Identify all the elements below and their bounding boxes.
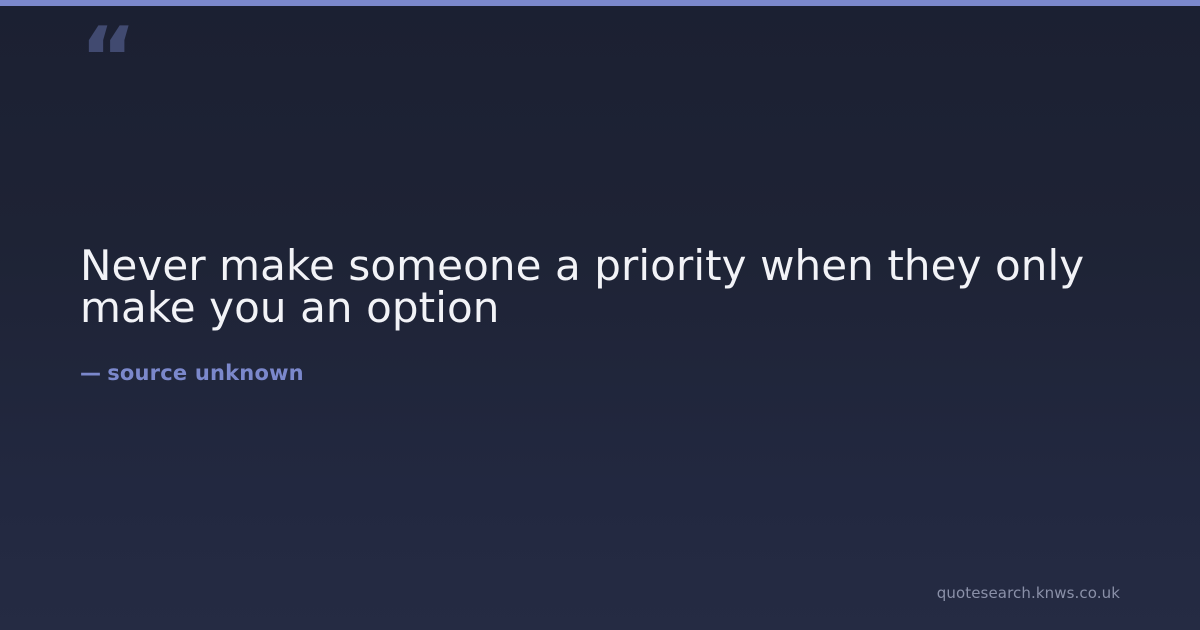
quote-text: Never make someone a priority when they … [80,245,1088,329]
site-watermark: quotesearch.knws.co.uk [937,584,1120,602]
attribution-dash: — [80,361,101,385]
quote-content: Never make someone a priority when they … [80,0,1090,630]
quote-attribution: —source unknown [80,361,1090,385]
quote-card: “ Never make someone a priority when the… [0,0,1200,630]
attribution-source: source unknown [107,361,304,385]
